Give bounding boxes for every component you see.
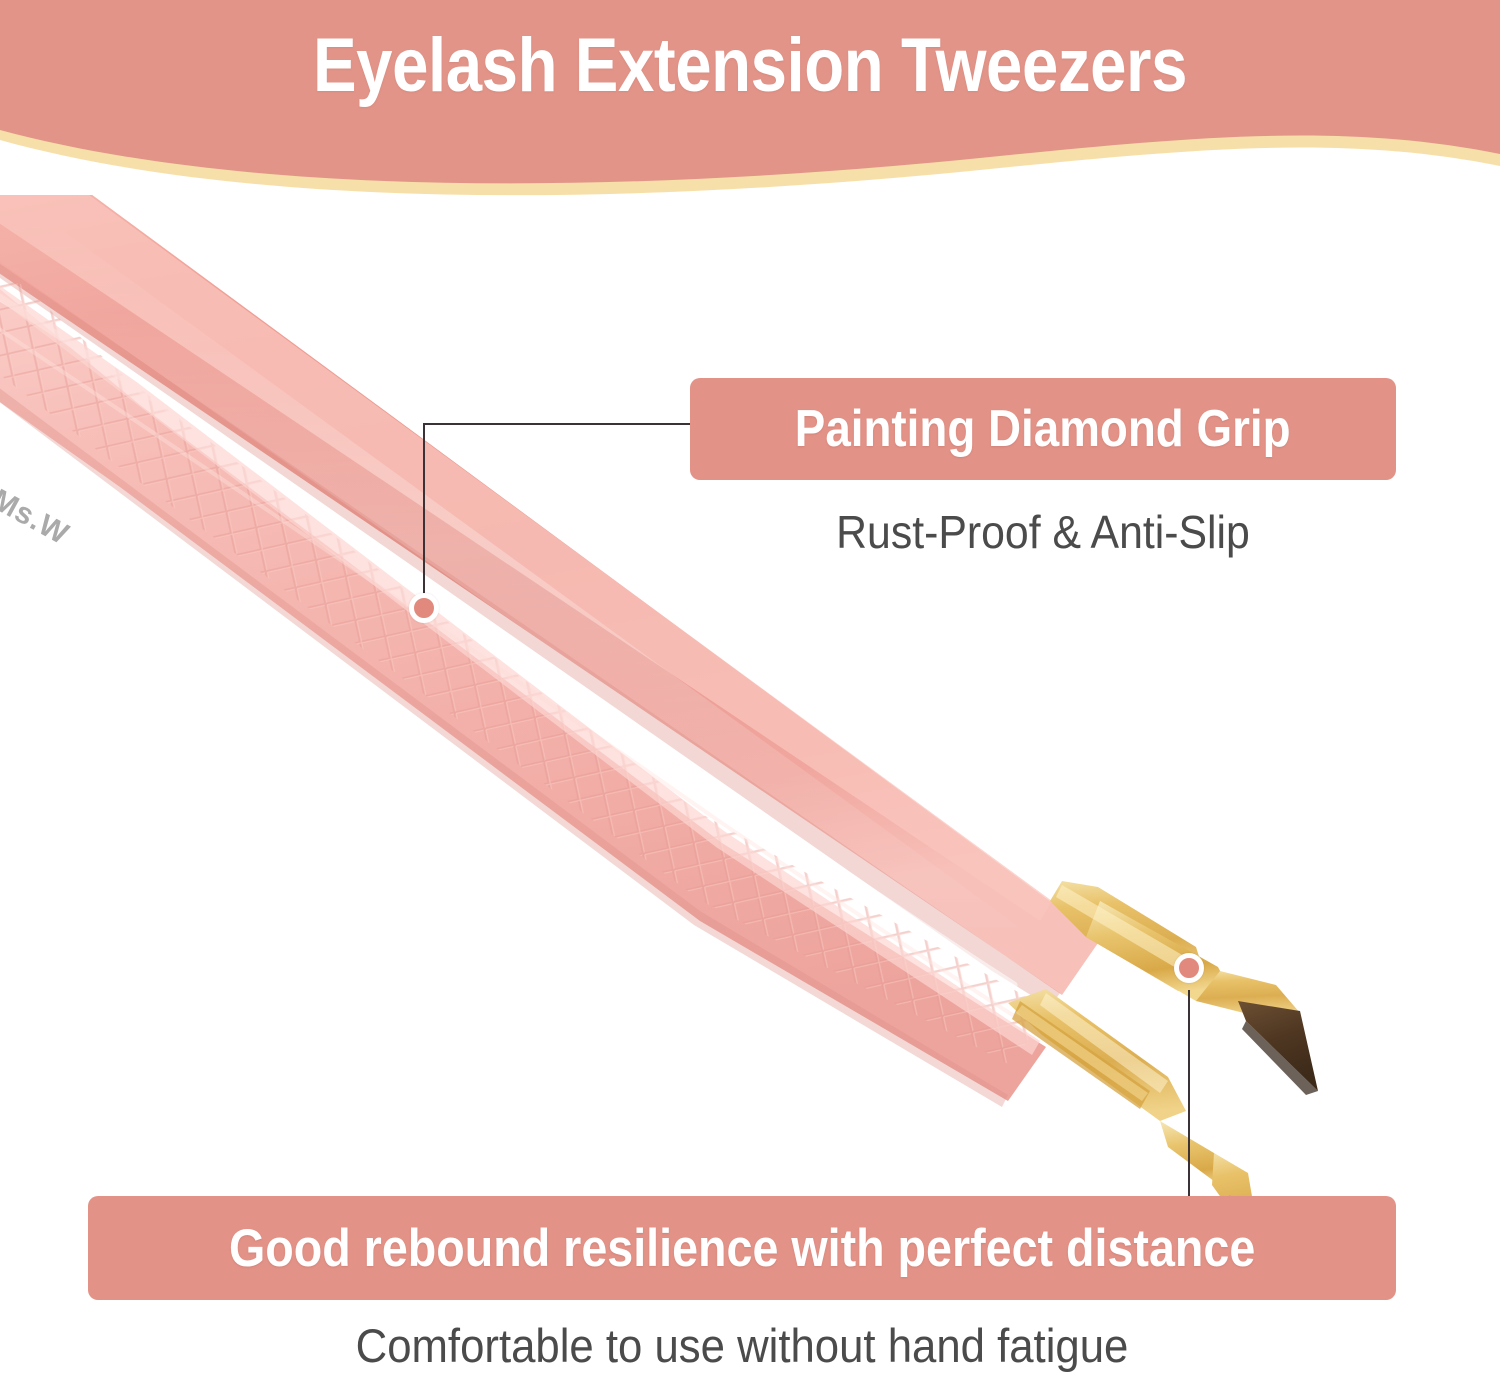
callout-subtitle-grip: Rust-Proof & Anti-Slip xyxy=(715,505,1372,559)
callout-dot-grip xyxy=(409,593,439,623)
header-banner: Eyelash Extension Tweezers xyxy=(0,0,1500,215)
tip-point-upper xyxy=(1238,1001,1318,1091)
callout-label-grip: Painting Diamond Grip xyxy=(795,399,1291,459)
product-infographic: Eyelash Extension Tweezers xyxy=(0,0,1500,1379)
callout-leader-line-rebound-vertical xyxy=(1188,990,1190,1196)
page-title: Eyelash Extension Tweezers xyxy=(105,28,1395,104)
callout-leader-line-grip-horizontal xyxy=(423,423,701,425)
tweezer-tip-lower xyxy=(1008,989,1262,1205)
tweezer-upper-arm xyxy=(0,195,1098,1007)
callout-leader-line-grip-vertical xyxy=(423,423,425,611)
callout-pill-rebound: Good rebound resilience with perfect dis… xyxy=(88,1196,1396,1300)
callout-label-rebound: Good rebound resilience with perfect dis… xyxy=(229,1218,1255,1279)
callout-pill-grip: Painting Diamond Grip xyxy=(690,378,1396,480)
product-photo: Ms.W xyxy=(0,195,1500,1205)
callout-dot-rebound xyxy=(1174,953,1204,983)
callout-subtitle-rebound: Comfortable to use without hand fatigue xyxy=(134,1318,1350,1373)
